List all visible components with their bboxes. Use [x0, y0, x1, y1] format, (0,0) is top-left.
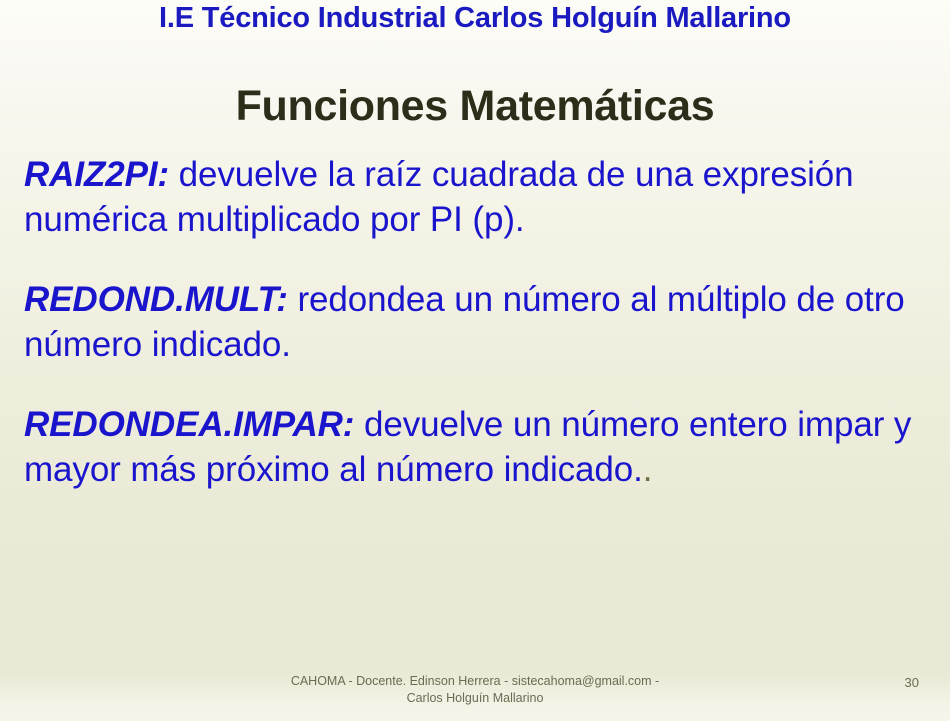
function-name-redond-mult: REDOND.MULT:: [24, 280, 288, 319]
function-name-raiz2pi: RAIZ2PI:: [24, 155, 169, 194]
function-name-redondea-impar: REDONDEA.IMPAR:: [24, 405, 354, 444]
slide: I.E Técnico Industrial Carlos Holguín Ma…: [0, 0, 950, 721]
function-entry-redondea-impar: REDONDEA.IMPAR: devuelve un número enter…: [24, 402, 926, 492]
page-number: 30: [905, 675, 919, 690]
page-title: Funciones Matemáticas: [0, 82, 950, 131]
slide-header-institution: I.E Técnico Industrial Carlos Holguín Ma…: [0, 2, 950, 35]
trailing-dot-mark: .: [643, 450, 653, 489]
footer-credit-line-2: Carlos Holguín Mallarino: [0, 690, 950, 707]
slide-body: RAIZ2PI: devuelve la raíz cuadrada de un…: [24, 152, 926, 492]
footer-credit-line-1: CAHOMA - Docente. Edinson Herrera - sist…: [0, 673, 950, 690]
function-entry-raiz2pi: RAIZ2PI: devuelve la raíz cuadrada de un…: [24, 152, 926, 242]
slide-footer: CAHOMA - Docente. Edinson Herrera - sist…: [0, 673, 950, 707]
function-entry-redond-mult: REDOND.MULT: redondea un número al múlti…: [24, 277, 926, 367]
